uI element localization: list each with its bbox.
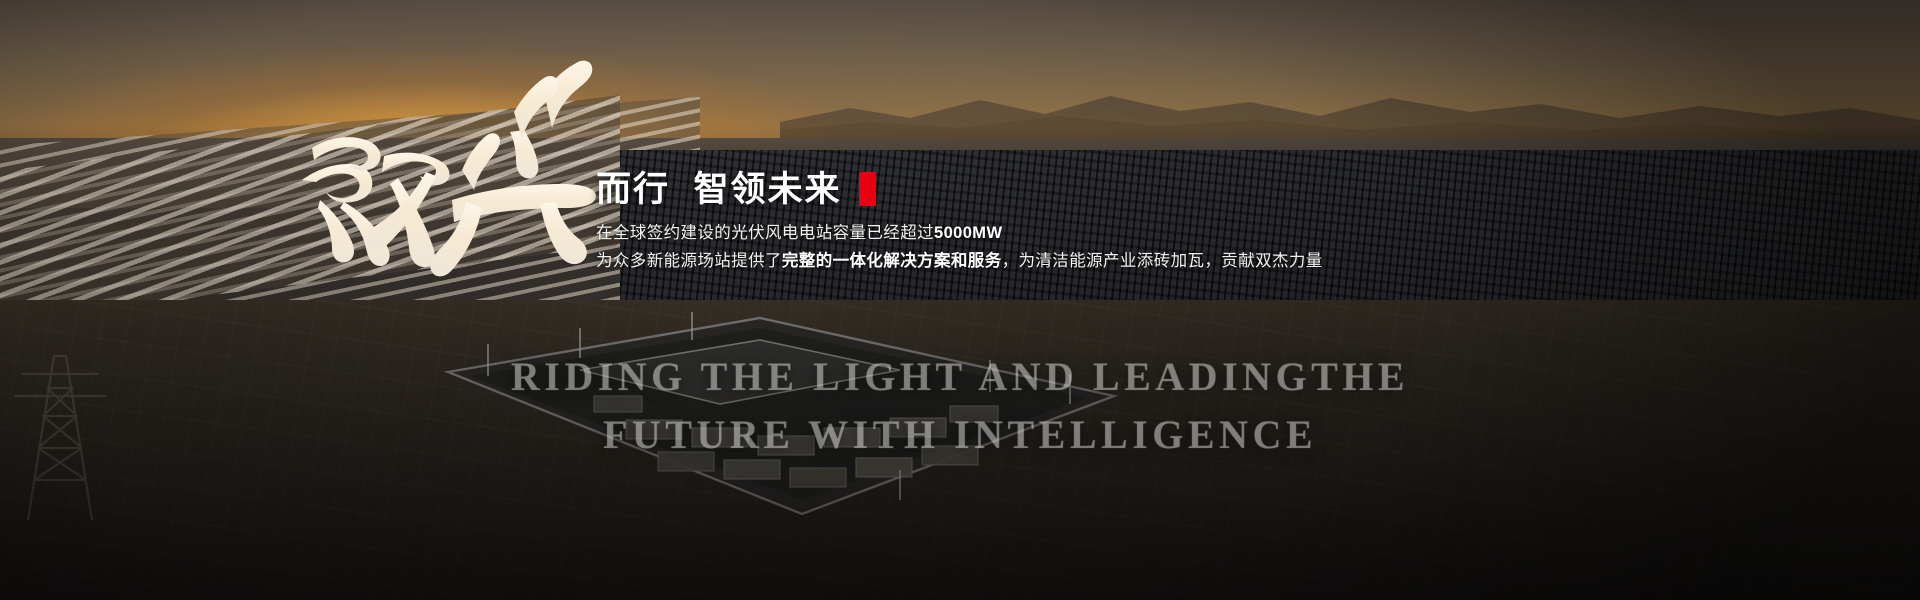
transmission-pylon xyxy=(0,330,120,520)
headline-accent-block xyxy=(859,172,876,206)
subtitle-line-2-prefix: 为众多新能源场站提供了 xyxy=(596,252,782,270)
subtitle-line-2: 为众多新能源场站提供了完整的一体化解决方案和服务，为清洁能源产业添砖加瓦，贡献双… xyxy=(596,248,1356,276)
hero-copy: 而行 智领未来 在全球签约建设的光伏风电电站容量已经超过5000MW 为众多新能… xyxy=(596,166,1356,275)
subtitle-line-2-suffix: ，为清洁能源产业添砖加瓦，贡献双杰力量 xyxy=(1002,252,1323,270)
subtitle-line-2-strong: 完整的一体化解决方案和服务 xyxy=(782,252,1002,270)
headline-text: 而行 智领未来 xyxy=(596,172,841,207)
subtitle-line-1-strong: 5000MW xyxy=(934,224,1002,242)
mountain-range xyxy=(780,78,1920,140)
headline: 而行 智领未来 xyxy=(596,166,1356,212)
hero-banner: 而行 智领未来 在全球签约建设的光伏风电电站容量已经超过5000MW 为众多新能… xyxy=(0,0,1920,600)
subtitle-line-1-prefix: 在全球签约建设的光伏风电电站容量已经超过 xyxy=(596,224,934,242)
substation-compound xyxy=(430,300,1130,550)
calligraphy-yuguang xyxy=(286,52,606,282)
subtitle-line-1: 在全球签约建设的光伏风电电站容量已经超过5000MW xyxy=(596,220,1356,248)
